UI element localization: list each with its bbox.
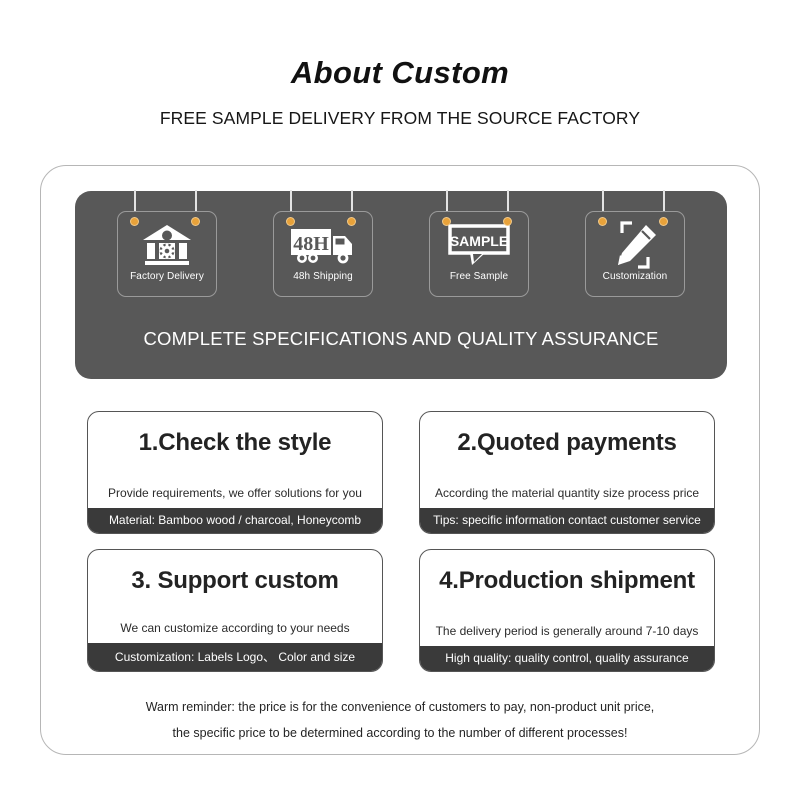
about-custom-page: About Custom FREE SAMPLE DELIVERY FROM T…: [0, 0, 800, 800]
step-card-2[interactable]: 2.Quoted payments According the material…: [419, 411, 715, 534]
step-card-4[interactable]: 4.Production shipment The delivery perio…: [419, 549, 715, 672]
pencil-customization-icon: [610, 220, 660, 270]
string-right: [195, 190, 197, 212]
badge-48h-shipping[interactable]: 48H 48h Shipping: [273, 191, 373, 297]
badge-label: Free Sample: [450, 271, 508, 282]
step-footer: High quality: quality control, quality a…: [420, 646, 714, 671]
sign-plate: Factory Delivery: [117, 211, 217, 297]
step-footer: Customization: Labels Logo、 Color and si…: [88, 643, 382, 671]
hanging-strings: [117, 191, 217, 213]
reminder-line-2: the specific price to be determined acco…: [41, 720, 759, 746]
step-description: The delivery period is generally around …: [420, 624, 714, 638]
badges-row: Factory Delivery: [75, 191, 727, 311]
badge-label: Customization: [603, 271, 668, 282]
features-panel: Factory Delivery: [75, 191, 727, 379]
page-title: About Custom: [0, 56, 800, 90]
step-description: We can customize according to your needs: [88, 621, 382, 635]
step-footer: Tips: specific information contact custo…: [420, 508, 714, 533]
warm-reminder: Warm reminder: the price is for the conv…: [41, 694, 759, 747]
screw-dot-right-icon: [504, 218, 511, 225]
screw-dot-right-icon: [348, 218, 355, 225]
step-footer: Material: Bamboo wood / charcoal, Honeyc…: [88, 508, 382, 533]
screw-dot-left-icon: [443, 218, 450, 225]
hanging-strings: [273, 191, 373, 213]
page-subtitle: FREE SAMPLE DELIVERY FROM THE SOURCE FAC…: [0, 108, 800, 129]
badge-free-sample[interactable]: SAMPLE Free Sample: [429, 191, 529, 297]
badge-factory-delivery[interactable]: Factory Delivery: [117, 191, 217, 297]
string-left: [446, 190, 448, 212]
string-left: [290, 190, 292, 212]
step-card-3[interactable]: 3. Support custom We can customize accor…: [87, 549, 383, 672]
string-left: [134, 190, 136, 212]
factory-building-icon: [141, 220, 193, 270]
panel-banner-text: COMPLETE SPECIFICATIONS AND QUALITY ASSU…: [75, 328, 727, 350]
string-right: [663, 190, 665, 212]
step-card-1[interactable]: 1.Check the style Provide requirements, …: [87, 411, 383, 534]
reminder-line-1: Warm reminder: the price is for the conv…: [41, 694, 759, 720]
sign-plate: Customization: [585, 211, 685, 297]
sign-plate: 48H 48h Shipping: [273, 211, 373, 297]
screw-dot-right-icon: [192, 218, 199, 225]
steps-grid: 1.Check the style Provide requirements, …: [87, 411, 715, 672]
step-description: Provide requirements, we offer solutions…: [88, 486, 382, 500]
step-title: 3. Support custom: [88, 567, 382, 595]
badge-label: Factory Delivery: [130, 271, 204, 282]
step-title: 2.Quoted payments: [420, 429, 714, 457]
sample-tag-icon: SAMPLE: [447, 220, 511, 270]
truck-icon-text: 48H: [293, 233, 329, 255]
sign-plate: SAMPLE Free Sample: [429, 211, 529, 297]
screw-dot-left-icon: [287, 218, 294, 225]
step-title: 4.Production shipment: [420, 567, 714, 595]
string-right: [351, 190, 353, 212]
truck-48h-icon: 48H: [290, 220, 356, 270]
badge-customization[interactable]: Customization: [585, 191, 685, 297]
screw-dot-right-icon: [660, 218, 667, 225]
screw-dot-left-icon: [599, 218, 606, 225]
content-frame: Factory Delivery: [40, 165, 760, 755]
hanging-strings: [585, 191, 685, 213]
screw-dot-left-icon: [131, 218, 138, 225]
badge-label: 48h Shipping: [293, 271, 353, 282]
hanging-strings: [429, 191, 529, 213]
string-left: [602, 190, 604, 212]
step-title: 1.Check the style: [88, 429, 382, 457]
step-description: According the material quantity size pro…: [420, 486, 714, 500]
page-header: About Custom FREE SAMPLE DELIVERY FROM T…: [0, 0, 800, 129]
sample-icon-text: SAMPLE: [450, 233, 508, 249]
string-right: [507, 190, 509, 212]
